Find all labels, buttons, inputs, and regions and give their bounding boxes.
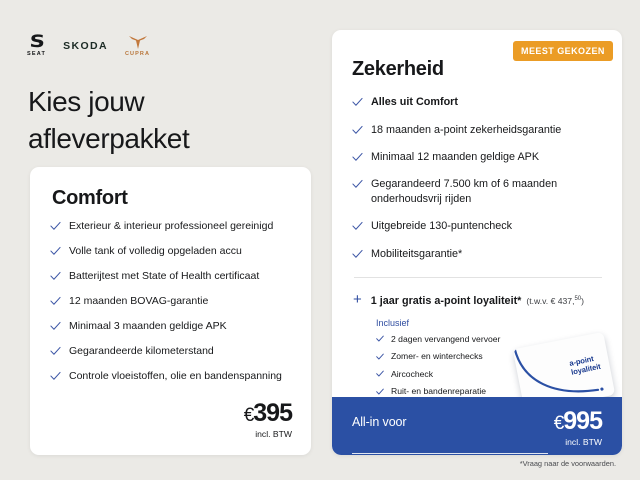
feature-text: Zomer- en winterchecks [391, 351, 483, 362]
list-item: Batterijtest met State of Health certifi… [50, 264, 291, 289]
feature-text: Aircocheck [391, 369, 433, 380]
feature-text: Minimaal 12 maanden geldige APK [371, 150, 539, 165]
inclusief-label: Inclusief [376, 318, 604, 328]
list-item: 12 maanden BOVAG-garantie [50, 289, 291, 314]
feature-text: Gegarandeerde kilometerstand [69, 344, 214, 358]
feature-text: Minimaal 3 maanden geldige APK [69, 319, 227, 333]
allin-label: All-in voor [352, 409, 406, 429]
feature-text: 2 dagen vervangend vervoer [391, 334, 500, 345]
zekerheid-price-value: 995 [563, 407, 602, 435]
feature-text: Gegarandeerd 7.500 km of 6 maanden onder… [371, 177, 604, 206]
check-icon [50, 296, 61, 307]
check-icon [352, 152, 363, 163]
feature-text: 12 maanden BOVAG-garantie [69, 294, 208, 308]
feature-text: Volle tank of volledig opgeladen accu [69, 244, 242, 258]
list-item: Mobiliteitsgarantie* [352, 240, 604, 267]
feature-text: 18 maanden a-point zekerheidsgarantie [371, 123, 561, 138]
brand-logo-row: S SEAT SKODA CUPRA [27, 33, 150, 59]
check-icon [376, 335, 384, 343]
check-icon [352, 249, 363, 260]
cupra-emblem-icon [128, 35, 148, 50]
plus-icon: + [353, 292, 362, 307]
list-item: Exterieur & interieur professioneel gere… [50, 214, 291, 239]
comfort-feature-list: Exterieur & interieur professioneel gere… [50, 214, 291, 389]
zekerheid-title: Zekerheid [352, 58, 604, 81]
feature-text: Mobiliteitsgarantie* [371, 247, 462, 262]
check-icon [352, 97, 363, 108]
check-icon [352, 221, 363, 232]
comfort-price-value: 395 [253, 399, 292, 427]
feature-text: Controle vloeistoffen, olie en bandenspa… [69, 369, 282, 383]
list-item: Gegarandeerd 7.500 km of 6 maanden onder… [352, 171, 604, 213]
check-icon [376, 353, 384, 361]
list-item: Minimaal 12 maanden geldige APK [352, 144, 604, 171]
list-item: Gegarandeerde kilometerstand [50, 339, 291, 364]
status-badge: MEEST GEKOZEN [513, 41, 613, 61]
comfort-price-block: €395 incl. BTW [244, 401, 292, 439]
cupra-logo: CUPRA [125, 35, 150, 57]
bonus-note: (t.w.v. € 437,50) [526, 296, 584, 306]
package-card-comfort[interactable]: Comfort Exterieur & interieur profession… [30, 167, 311, 455]
feature-text: Exterieur & interieur professioneel gere… [69, 219, 273, 233]
page-title: Kies jouw afleverpakket [28, 84, 298, 158]
check-icon [50, 346, 61, 357]
list-item: Controle vloeistoffen, olie en bandenspa… [50, 364, 291, 389]
promo-page: S SEAT SKODA CUPRA Kies jouw afleverpakk… [0, 0, 640, 480]
feature-text: Alles uit Comfort [371, 95, 458, 110]
check-icon [352, 125, 363, 136]
check-icon [50, 246, 61, 257]
zekerheid-price-block: €995 incl. BTW [554, 409, 602, 447]
currency-symbol: € [244, 405, 254, 426]
list-item: 18 maanden a-point zekerheidsgarantie [352, 116, 604, 143]
check-icon [376, 370, 384, 378]
package-card-zekerheid[interactable]: MEEST GEKOZEN Zekerheid Alles uit Comfor… [332, 30, 622, 455]
bonus-text: 1 jaar gratis a-point loyaliteit* [371, 295, 522, 307]
check-icon [50, 221, 61, 232]
feature-text: Ruit- en bandenreparatie [391, 386, 486, 397]
list-item: Minimaal 3 maanden geldige APK [50, 314, 291, 339]
list-item: Volle tank of volledig opgeladen accu [50, 239, 291, 264]
skoda-logo: SKODA [63, 40, 108, 52]
zekerheid-price: €995 [554, 409, 602, 434]
cupra-logo-text: CUPRA [125, 51, 150, 57]
currency-symbol: € [554, 413, 564, 434]
comfort-price-note: incl. BTW [244, 429, 292, 439]
inclusief-block: Inclusief 2 dagen vervangend vervoer Zom… [376, 318, 604, 401]
check-icon [352, 179, 363, 190]
seat-logo: S SEAT [27, 35, 46, 57]
divider [354, 277, 602, 278]
seat-logo-mark: S [29, 35, 44, 50]
bonus-row: + 1 jaar gratis a-point loyaliteit*(t.w.… [352, 291, 604, 309]
check-icon [50, 271, 61, 282]
zekerheid-body: Zekerheid Alles uit Comfort 18 maanden a… [332, 30, 622, 401]
footnote: *Vraag naar de voorwaarden. [520, 459, 616, 468]
list-item: Alles uit Comfort [352, 89, 604, 116]
zekerheid-price-bar: All-in voor €995 incl. BTW [332, 397, 622, 455]
bonus-note-suffix: ) [581, 296, 584, 306]
check-icon [376, 388, 384, 396]
feature-text: Batterijtest met State of Health certifi… [69, 269, 259, 283]
bonus-block: 1 jaar gratis a-point loyaliteit*(t.w.v.… [371, 291, 584, 309]
check-icon [50, 371, 61, 382]
feature-text: Uitgebreide 130-puntencheck [371, 219, 512, 234]
zekerheid-feature-list: Alles uit Comfort 18 maanden a-point zek… [352, 89, 604, 268]
bonus-note-prefix: (t.w.v. € 437, [526, 296, 574, 306]
price-bar-underline [352, 453, 548, 454]
list-item: Uitgebreide 130-puntencheck [352, 213, 604, 240]
zekerheid-price-note: incl. BTW [554, 437, 602, 447]
comfort-title: Comfort [52, 187, 291, 210]
comfort-price: €395 [244, 401, 292, 426]
check-icon [50, 321, 61, 332]
